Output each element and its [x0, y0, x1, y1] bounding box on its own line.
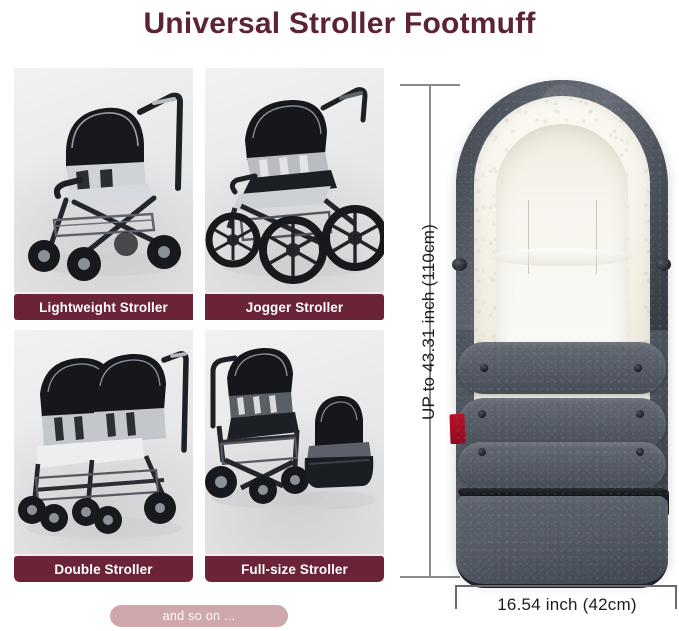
and-so-on-badge: and so on ...	[110, 605, 288, 627]
jogger-stroller-photo	[205, 68, 384, 292]
grid-cell-double-stroller[interactable]: Double Stroller	[14, 330, 193, 582]
grid-cell-label: Jogger Stroller	[205, 294, 384, 320]
grid-cell-label: Lightweight Stroller	[14, 294, 193, 320]
page-title: Universal Stroller Footmuff	[0, 0, 679, 48]
zipper	[458, 488, 666, 496]
product-panel: UP to 43.31 inch (110cm) 16.5	[396, 64, 679, 631]
hood-anchor-right-icon	[656, 258, 671, 271]
snap-button	[478, 448, 486, 456]
full-size-stroller-photo	[205, 330, 384, 554]
snap-button	[634, 364, 642, 372]
height-dimension-label: UP to 43.31 inch (110cm)	[416, 192, 442, 452]
grid-cell-lightweight-stroller[interactable]: Lightweight Stroller	[14, 68, 193, 320]
lightweight-stroller-photo	[14, 68, 193, 292]
stroller-footmuff-photo	[444, 80, 679, 580]
brand-tag	[449, 414, 465, 445]
width-dimension-label: 16.54 inch (42cm)	[458, 591, 676, 619]
lightweight-stroller-illustration	[14, 68, 193, 292]
grid-cell-full-size-stroller[interactable]: Full-size Stroller	[205, 330, 384, 582]
snap-button	[478, 410, 486, 418]
snap-button	[636, 448, 644, 456]
footmuff-apron	[456, 496, 668, 588]
grid-cell-jogger-stroller[interactable]: Jogger Stroller	[205, 68, 384, 320]
snap-button	[636, 410, 644, 418]
width-dimension-tick-left	[455, 585, 457, 609]
double-stroller-photo	[14, 330, 193, 554]
full-size-stroller-illustration	[205, 330, 384, 554]
grid-cell-label: Double Stroller	[14, 556, 193, 582]
fleece-fold	[490, 248, 634, 266]
jogger-stroller-illustration	[205, 68, 384, 292]
snap-button	[480, 364, 488, 372]
double-stroller-illustration	[14, 330, 193, 554]
quilt-channel	[458, 442, 666, 488]
compatibility-grid: Lightweight Stroller	[14, 68, 384, 586]
hood-anchor-left-icon	[452, 258, 467, 271]
width-dimension-line	[456, 585, 677, 587]
grid-cell-label: Full-size Stroller	[205, 556, 384, 582]
